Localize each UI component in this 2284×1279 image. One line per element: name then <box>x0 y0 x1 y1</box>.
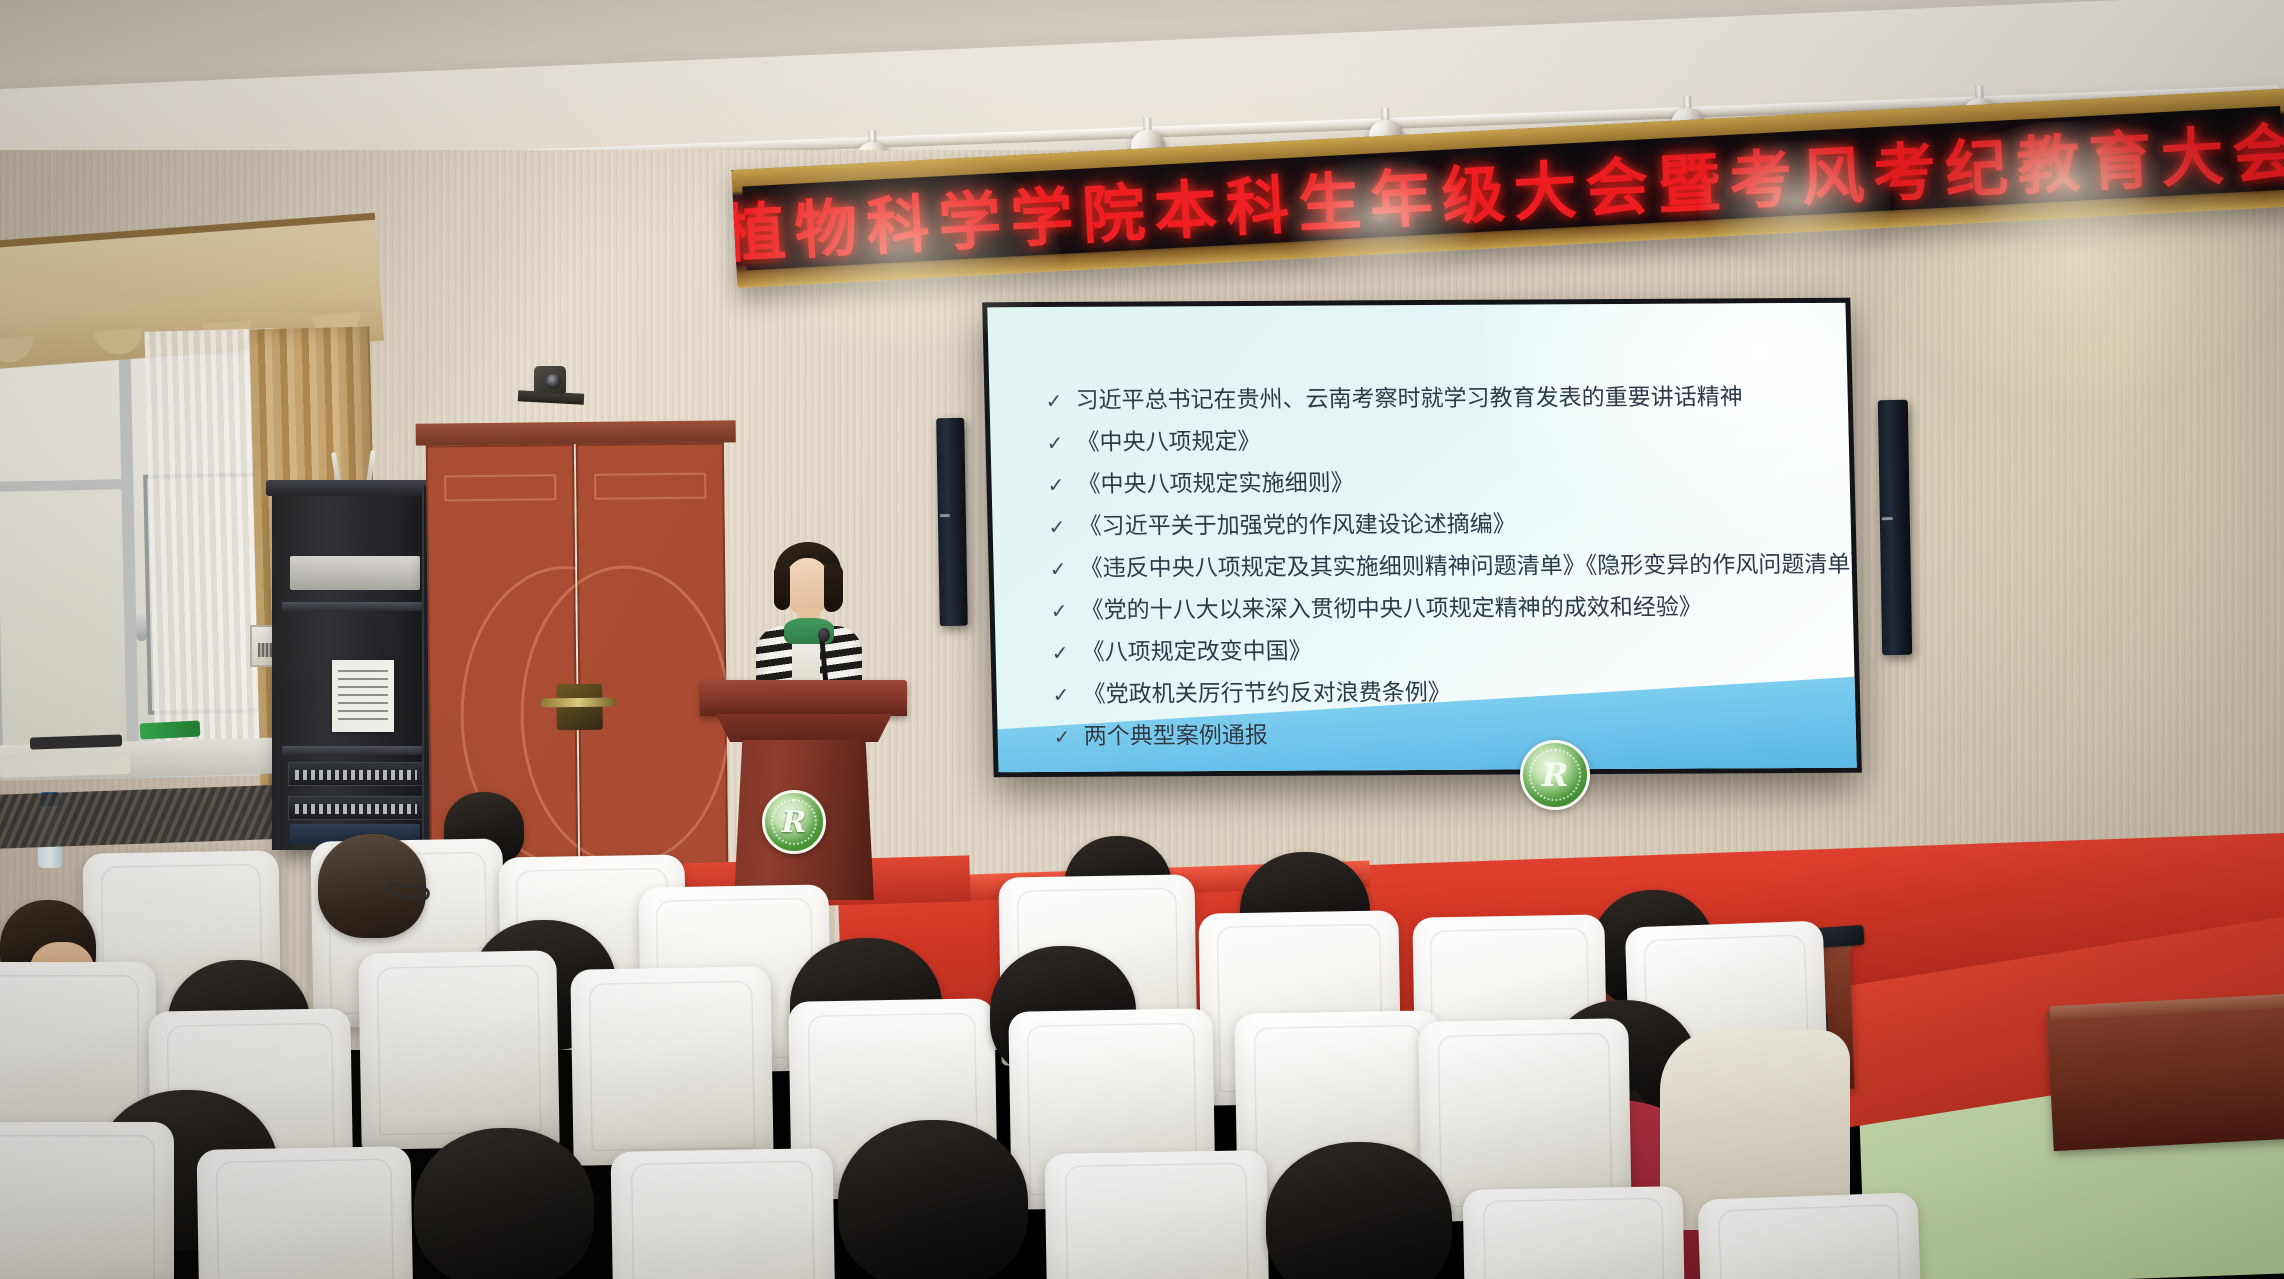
column-speaker <box>936 418 968 626</box>
audience-chair <box>570 966 773 1165</box>
audience-head <box>414 1128 594 1279</box>
presenter-hair-left <box>774 566 790 610</box>
window-handle[interactable] <box>136 611 147 641</box>
door-handle[interactable] <box>556 684 602 730</box>
emblem-ring <box>771 799 817 845</box>
list-item: ✓ 《八项规定改变中国》 <box>1051 633 1844 669</box>
audience-chair <box>1463 1186 1686 1279</box>
list-item: ✓ 《中央八项规定》 <box>1046 423 1839 459</box>
presenter <box>748 528 868 698</box>
list-item: ✓ 《党的十八大以来深入贯彻中央八项规定精神的成效和经验》 <box>1050 591 1843 627</box>
list-item-label: 《违反中央八项规定及其实施细则精神问题清单》《隐形变异的作风问题清单》 <box>1079 549 1856 585</box>
check-icon: ✓ <box>1048 511 1079 543</box>
door-panel-inset <box>594 473 706 500</box>
audience-chair <box>1697 1192 1922 1279</box>
side-desk-far <box>2047 999 2284 1151</box>
list-item-label: 《中央八项规定实施细则》 <box>1077 467 1354 500</box>
list-item-label: 《党的十八大以来深入贯彻中央八项规定精神的成效和经验》 <box>1080 592 1702 627</box>
slide-bullet-list: ✓ 习近平总书记在贵州、云南考察时就学习教育发表的重要讲话精神 ✓ 《中央八项规… <box>1045 381 1846 763</box>
projection-screen: ✓ 习近平总书记在贵州、云南考察时就学习教育发表的重要讲话精神 ✓ 《中央八项规… <box>982 298 1862 777</box>
door-panel-inset <box>444 474 556 501</box>
rack-shelf <box>282 602 432 611</box>
camera-body <box>534 366 566 394</box>
microphone-icon <box>818 628 830 642</box>
list-item-label: 《中央八项规定》 <box>1076 426 1261 459</box>
check-icon: ✓ <box>1051 637 1082 669</box>
list-item: ✓ 《习近平关于加强党的作风建设论述摘编》 <box>1048 507 1841 543</box>
column-speaker <box>1878 400 1912 655</box>
speaker-podium: R <box>706 680 901 895</box>
podium-top <box>700 680 907 716</box>
auditorium-photo: 植物科学学院本科生年级大会暨考风考纪教育大会 ✓ 习近平总书记在贵州、云南考察时… <box>0 0 2284 1279</box>
list-item-label: 《党政机关厉行节约反对浪费条例》 <box>1082 677 1451 711</box>
list-item: ✓ 习近平总书记在贵州、云南考察时就学习教育发表的重要讲话精神 <box>1045 381 1838 417</box>
presenter-hair-right <box>824 564 843 612</box>
list-item-label: 《八项规定改变中国》 <box>1081 636 1312 669</box>
check-icon: ✓ <box>1050 595 1081 627</box>
list-item-label: 《习近平关于加强党的作风建设论述摘编》 <box>1078 509 1516 543</box>
list-item: ✓ 《违反中央八项规定及其实施细则精神问题清单》《隐形变异的作风问题清单》 <box>1049 549 1842 585</box>
podium-apron <box>716 714 892 742</box>
sill-item <box>140 720 201 739</box>
audience-chair <box>358 950 559 1149</box>
wall-highlight <box>1850 150 2284 850</box>
audience-head <box>838 1120 1028 1279</box>
rack-shelf <box>282 746 432 755</box>
stage-wall-emblem: R <box>1520 740 1590 810</box>
audience-head <box>1266 1142 1452 1279</box>
audience-chair <box>1044 1150 1269 1279</box>
list-item-label: 习近平总书记在贵州、云南考察时就学习教育发表的重要讲话精神 <box>1075 381 1743 416</box>
rack-amplifier <box>290 556 420 590</box>
check-icon: ✓ <box>1046 427 1077 459</box>
window-pane <box>0 357 129 778</box>
podium-emblem: R <box>762 790 826 854</box>
patch-panel <box>288 796 424 820</box>
list-item: ✓ 两个典型案例通报 <box>1053 717 1846 753</box>
slide-surface: ✓ 习近平总书记在贵州、云南考察时就学习教育发表的重要讲话精神 ✓ 《中央八项规… <box>987 303 1857 772</box>
check-icon: ✓ <box>1045 385 1076 417</box>
audience-chair <box>610 1148 835 1279</box>
check-icon: ✓ <box>1047 469 1078 501</box>
rack-label-sheet <box>332 660 394 732</box>
ptz-camera <box>530 366 570 402</box>
check-icon: ✓ <box>1052 679 1083 711</box>
list-item-label: 两个典型案例通报 <box>1083 720 1268 753</box>
patch-panel <box>288 762 424 786</box>
list-item: ✓ 《中央八项规定实施细则》 <box>1047 465 1840 501</box>
audience-chair <box>0 1122 174 1279</box>
audience-chair <box>197 1146 414 1279</box>
camera-lens-icon <box>546 374 561 389</box>
check-icon: ✓ <box>1049 553 1080 585</box>
emblem-ring <box>1529 749 1581 801</box>
list-item: ✓ 《党政机关厉行节约反对浪费条例》 <box>1052 675 1845 711</box>
check-icon: ✓ <box>1053 721 1084 753</box>
